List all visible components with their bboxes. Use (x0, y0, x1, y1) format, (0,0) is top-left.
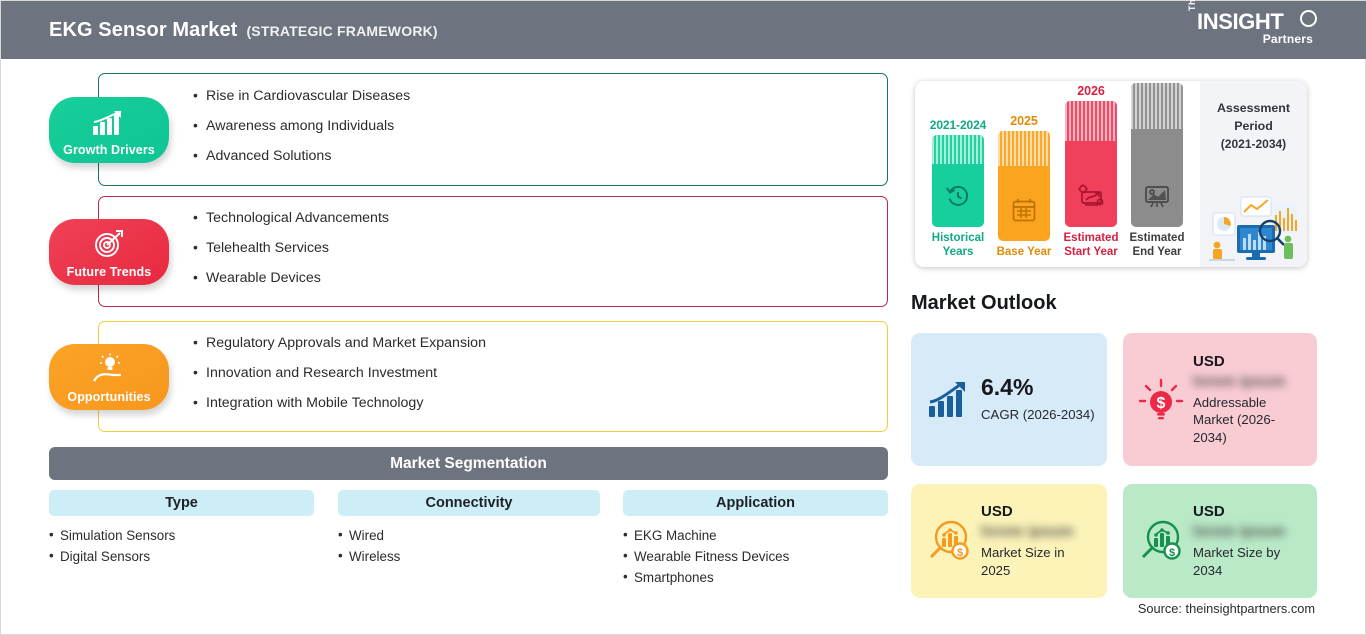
addressable-market-card-body: USDlorem ipsumAddressable Market (2026-2… (1193, 353, 1305, 447)
data-analytics-illustration (1207, 191, 1303, 265)
analytics-gear-icon (1077, 183, 1105, 214)
segmentation-column-list: Simulation SensorsDigital Sensors (49, 525, 314, 567)
bar-chart-arrow-up-icon (92, 110, 126, 141)
future-trends-list: Technological AdvancementsTelehealth Ser… (193, 210, 389, 300)
timeline-bar-stripes (1065, 101, 1117, 141)
header-title-group: EKG Sensor Market (STRATEGIC FRAMEWORK) (49, 19, 438, 42)
segmentation-item: Wearable Fitness Devices (623, 546, 888, 567)
logo-ring-icon (1300, 10, 1317, 27)
segmentation-item: Wired (338, 525, 600, 546)
opportunities-list: Regulatory Approvals and Market Expansio… (193, 335, 486, 425)
timeline-bars-group: 2021-2024Historical Years2025Base Year20… (915, 81, 1200, 267)
segmentation-column-list: EKG MachineWearable Fitness DevicesSmart… (623, 525, 888, 588)
timeline-bar-item: 2021-2024Historical Years (932, 118, 984, 259)
metric-value: 6.4% (981, 376, 1095, 399)
metric-label: Market Size by 2034 (1193, 544, 1305, 579)
timeline-bar (1131, 83, 1183, 227)
timeline-bar-stripes (932, 135, 984, 164)
assessment-timeline-panel: 2021-2024Historical Years2025Base Year20… (915, 81, 1307, 267)
monitor-chart-icon (1143, 183, 1171, 214)
svg-text:$: $ (957, 547, 963, 559)
redacted-value: lorem ipsum (981, 523, 1095, 540)
currency-label: USD (1193, 353, 1305, 370)
segmentation-item: Smartphones (623, 567, 888, 588)
timeline-bar-caption: Historical Years (925, 232, 991, 259)
svg-text:$: $ (1157, 395, 1166, 412)
page-header: EKG Sensor Market (STRATEGIC FRAMEWORK) … (1, 1, 1366, 59)
segmentation-item: Digital Sensors (49, 546, 314, 567)
market-size-2034-card-body: USDlorem ipsumMarket Size by 2034 (1193, 503, 1305, 579)
logo-partners-text: Partners (1263, 32, 1313, 46)
timeline-bar (998, 131, 1050, 241)
segmentation-column: TypeSimulation SensorsDigital Sensors (49, 490, 314, 567)
segmentation-item: Simulation Sensors (49, 525, 314, 546)
assessment-period-box: Assessment Period (2021-2034) (1200, 81, 1307, 267)
future-trends-badge-label: Future Trends (67, 265, 152, 279)
svg-text:$: $ (1169, 547, 1175, 559)
market-outlook-title: Market Outlook (911, 292, 1057, 315)
driver-list-item: Advanced Solutions (193, 148, 410, 165)
redacted-value: lorem ipsum (1193, 523, 1305, 540)
timeline-bar-item: 2034Estimated End Year (1131, 81, 1183, 259)
segmentation-column-header: Application (623, 490, 888, 516)
growth-bar-chart-icon (927, 380, 971, 420)
cagr-card-body: 6.4%CAGR (2026-2034) (981, 376, 1095, 424)
opportunities-badge[interactable]: Opportunities (49, 344, 169, 410)
metric-label: Market Size in 2025 (981, 544, 1095, 579)
segmentation-column-header: Type (49, 490, 314, 516)
timeline-bar-stripes (998, 131, 1050, 166)
growth-drivers-badge[interactable]: Growth Drivers (49, 97, 169, 163)
driver-list-item: Technological Advancements (193, 210, 389, 227)
timeline-bar (932, 135, 984, 227)
timeline-bar (1065, 101, 1117, 227)
currency-label: USD (981, 503, 1095, 520)
redacted-value: lorem ipsum (1193, 373, 1305, 390)
timeline-bar-year: 2025 (998, 114, 1050, 128)
dollar-lightbulb-icon: $ (1137, 377, 1185, 423)
magnifier-chart-dollar-icon: $ (925, 518, 973, 564)
timeline-bar-caption: Estimated End Year (1124, 232, 1190, 259)
timeline-bar-item: 2026Estimated Start Year (1065, 84, 1117, 259)
logo-the-text: The (1187, 0, 1197, 11)
market-size-2034-card: $USDlorem ipsumMarket Size by 2034 (1123, 484, 1317, 598)
cagr-card: 6.4%CAGR (2026-2034) (911, 333, 1107, 466)
lightbulb-in-hand-icon (93, 353, 125, 388)
driver-list-item: Rise in Cardiovascular Diseases (193, 88, 410, 105)
currency-label: USD (1193, 503, 1305, 520)
timeline-bar-caption: Base Year (991, 246, 1057, 259)
segmentation-column-list: WiredWireless (338, 525, 600, 567)
driver-list-item: Integration with Mobile Technology (193, 395, 486, 412)
driver-list-item: Regulatory Approvals and Market Expansio… (193, 335, 486, 352)
growth-drivers-list: Rise in Cardiovascular DiseasesAwareness… (193, 88, 410, 178)
magnifier-chart-dollar-icon: $ (1137, 518, 1185, 564)
addressable-market-card: $USDlorem ipsumAddressable Market (2026-… (1123, 333, 1317, 466)
page-subtitle: (STRATEGIC FRAMEWORK) (246, 23, 437, 39)
future-trends-badge[interactable]: Future Trends (49, 219, 169, 285)
market-size-2025-card-body: USDlorem ipsumMarket Size in 2025 (981, 503, 1095, 579)
timeline-bar-item: 2025Base Year (998, 114, 1050, 259)
segmentation-column-header: Connectivity (338, 490, 600, 516)
segmentation-item: Wireless (338, 546, 600, 567)
calendar-icon (1011, 197, 1037, 228)
driver-list-item: Awareness among Individuals (193, 118, 410, 135)
target-dart-icon (94, 230, 124, 263)
clock-history-icon (945, 183, 971, 214)
assessment-period-range: (2021-2034) (1200, 137, 1307, 151)
timeline-bar-caption: Estimated Start Year (1058, 232, 1124, 259)
timeline-bar-stripes (1131, 83, 1183, 129)
market-segmentation-header: Market Segmentation (49, 447, 888, 480)
market-size-2025-card: $USDlorem ipsumMarket Size in 2025 (911, 484, 1107, 598)
assessment-period-title: Assessment Period (1200, 81, 1307, 136)
segmentation-column: ConnectivityWiredWireless (338, 490, 600, 567)
timeline-bar-year: 2026 (1065, 84, 1117, 98)
page-title: EKG Sensor Market (49, 19, 237, 42)
metric-label: CAGR (2026-2034) (981, 406, 1095, 424)
timeline-bar-year: 2021-2024 (924, 118, 992, 132)
driver-list-item: Wearable Devices (193, 270, 389, 287)
insight-partners-logo: The INSIGHT Partners (1187, 8, 1317, 52)
driver-list-item: Telehealth Services (193, 240, 389, 257)
driver-list-item: Innovation and Research Investment (193, 365, 486, 382)
growth-drivers-badge-label: Growth Drivers (63, 143, 155, 157)
metric-label: Addressable Market (2026-2034) (1193, 394, 1305, 447)
source-attribution: Source: theinsightpartners.com (1138, 601, 1315, 616)
infographic-page: EKG Sensor Market (STRATEGIC FRAMEWORK) … (0, 0, 1366, 635)
segmentation-item: EKG Machine (623, 525, 888, 546)
opportunities-badge-label: Opportunities (67, 390, 150, 404)
segmentation-column: ApplicationEKG MachineWearable Fitness D… (623, 490, 888, 588)
